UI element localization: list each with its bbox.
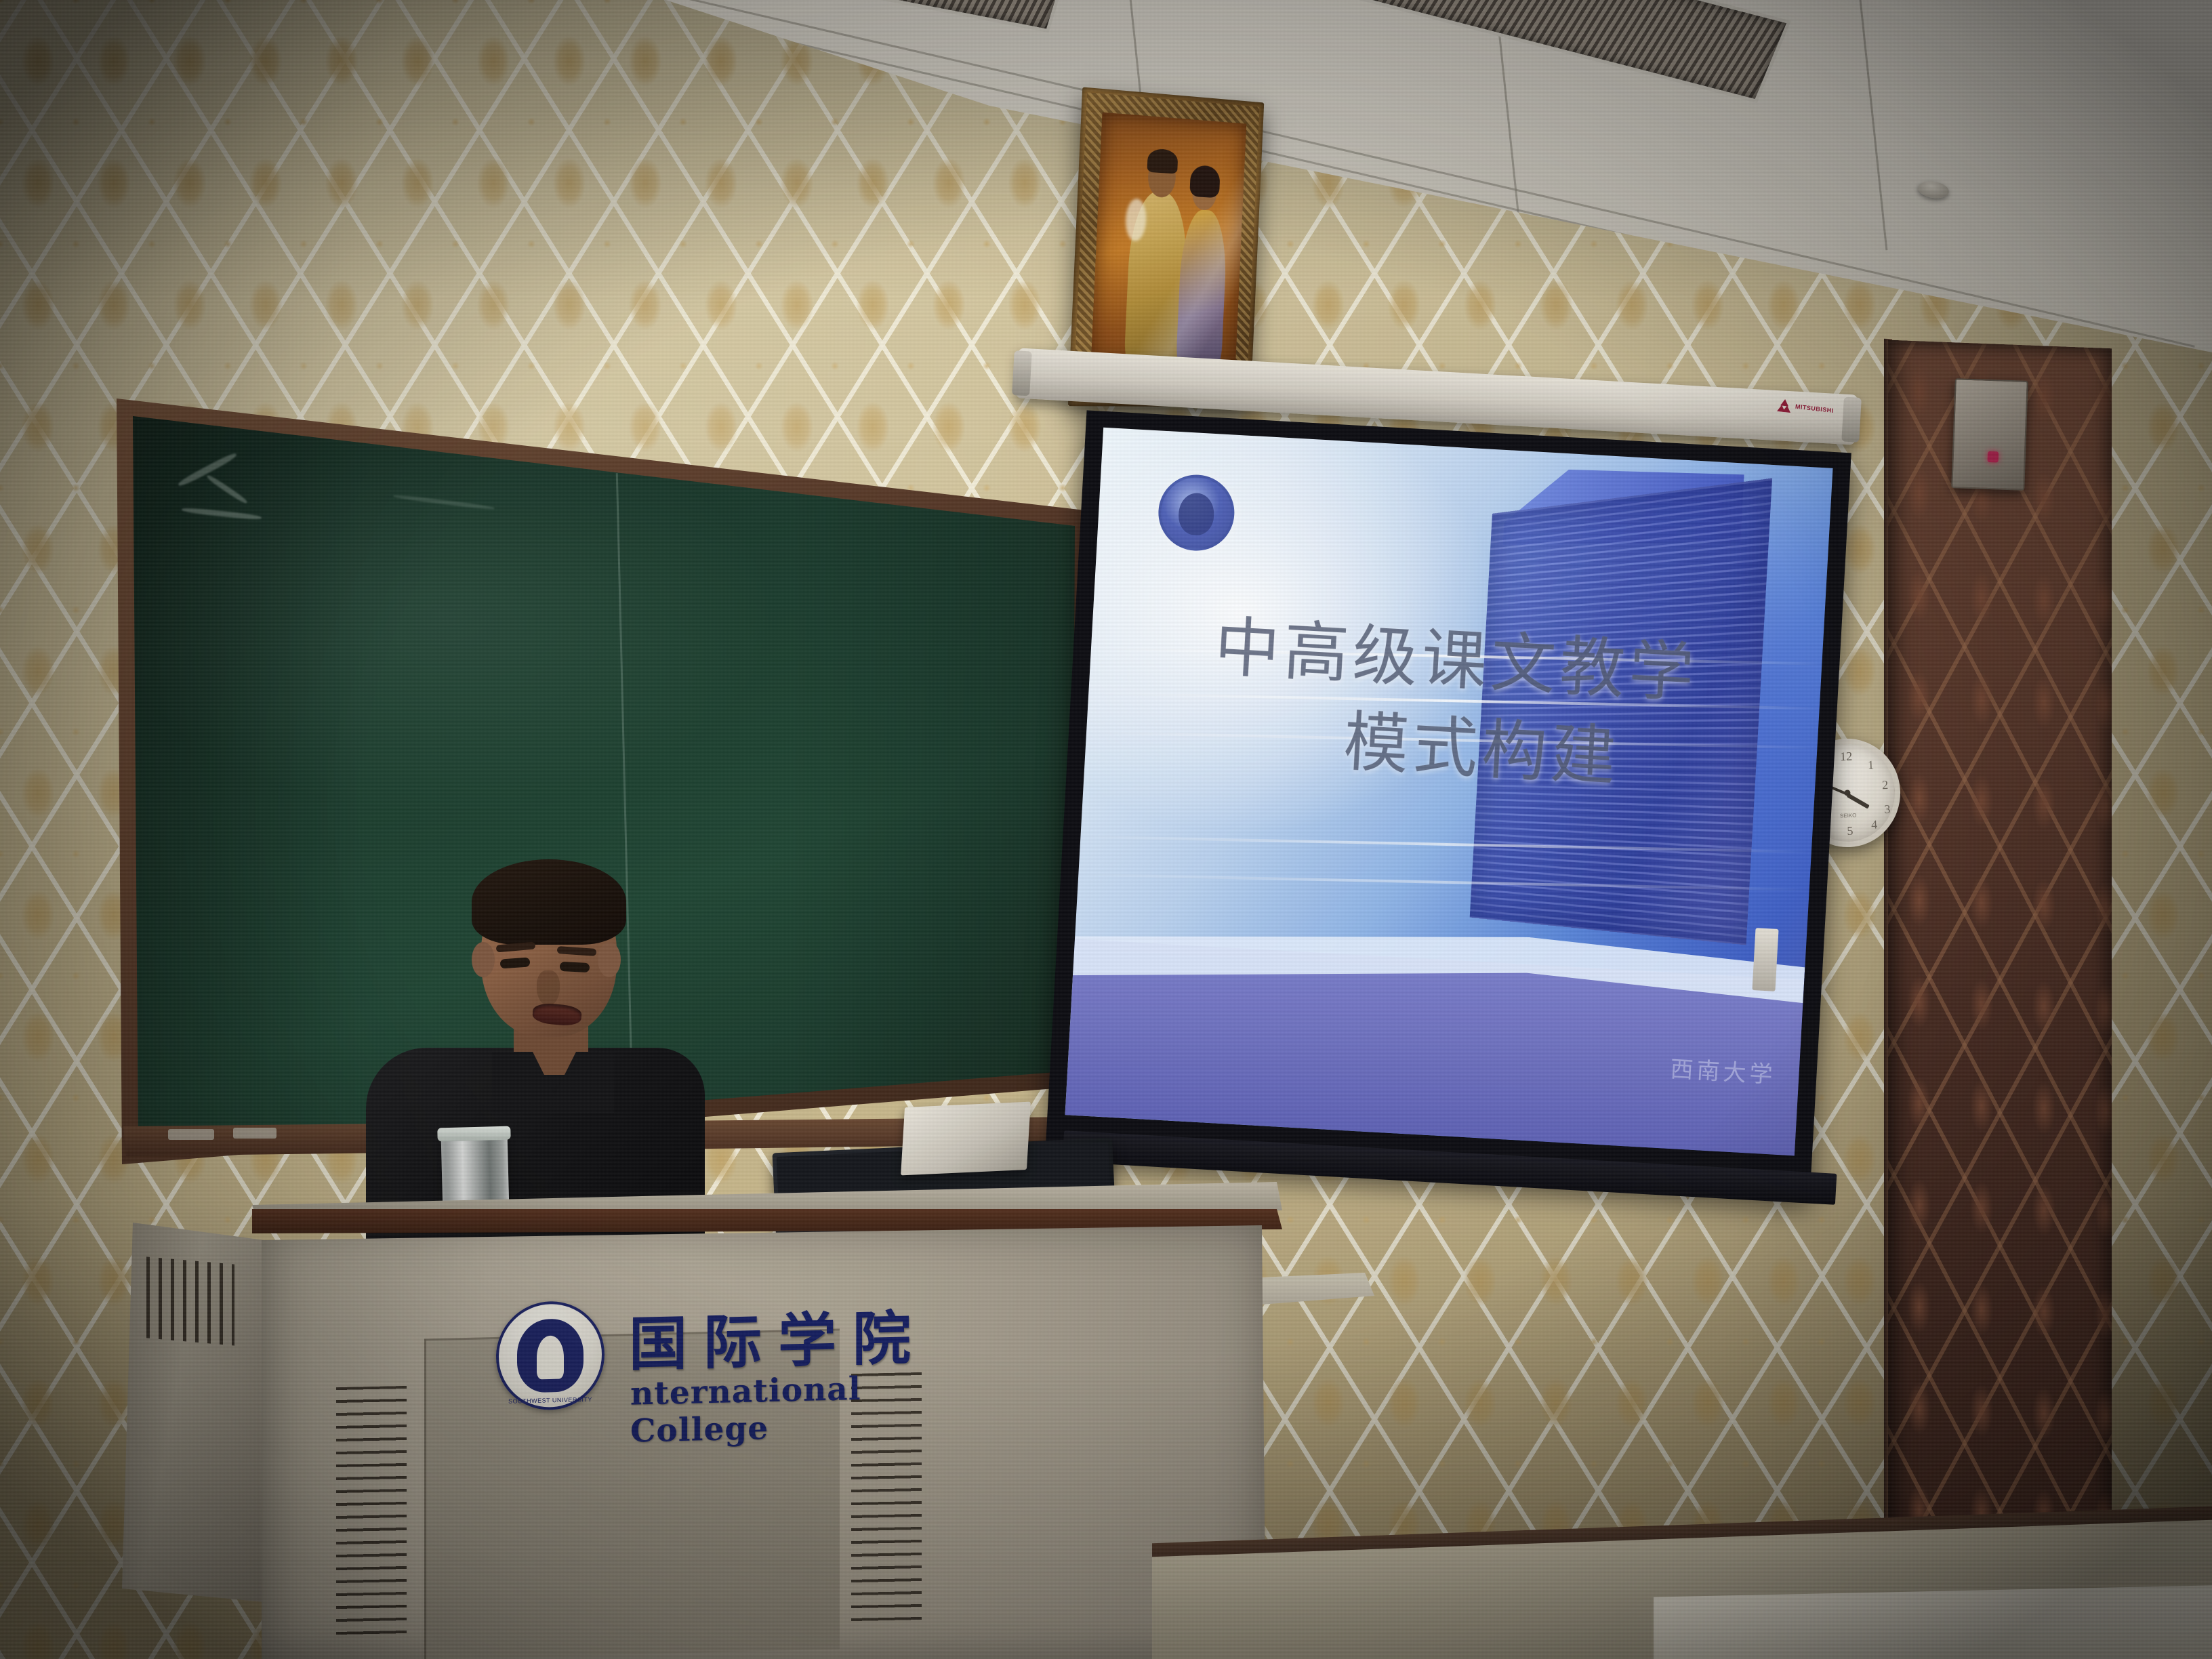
clock-numeral: 2: [1878, 778, 1892, 793]
seal-inner-shape: [1178, 492, 1215, 536]
projected-slide: 中高级课文教学 模式构建 西南大学: [1065, 428, 1832, 1156]
projector-brand-text: MITSUBISHI: [1795, 403, 1834, 414]
screen-housing-end-left: [1012, 350, 1032, 396]
southwest-university-seal-icon: SOUTHWEST UNIVERSITY: [496, 1300, 605, 1412]
chalk-eraser: [168, 1129, 214, 1140]
wall-mounted-speaker: [1951, 378, 2028, 491]
lectern-side-vents: [146, 1256, 234, 1345]
institution-name-english: nternational College: [630, 1368, 984, 1450]
speaker-led-indicator: [1988, 451, 1999, 463]
lectern-device-box[interactable]: [901, 1102, 1031, 1176]
seal-bell-emblem: [537, 1335, 564, 1379]
screen-housing-end-right: [1841, 397, 1862, 443]
presenter-ear-right: [598, 942, 621, 977]
lectern-side-cabinet: [122, 1223, 264, 1602]
presenter-eye-right: [560, 962, 590, 972]
clock-numeral: 1: [1864, 758, 1878, 773]
presenter-ear-left: [472, 942, 495, 977]
clock-numeral: 4: [1867, 817, 1881, 832]
lectern-speaker-grille-left: [336, 1386, 407, 1642]
clock-brand-label: SEIKO: [1840, 812, 1857, 819]
lecture-hall-photo: 12 1 2 3 4 5 6 7 8 9 SEIKO: [0, 0, 2212, 1659]
presenter-nose: [537, 970, 560, 1006]
clock-hour-hand: [1847, 793, 1870, 808]
lectern-institution-plaque: SOUTHWEST UNIVERSITY 国际学院 nternational C…: [496, 1282, 984, 1427]
lectern-front-face: SOUTHWEST UNIVERSITY 国际学院 nternational C…: [262, 1225, 1266, 1659]
chalk-eraser: [233, 1128, 276, 1139]
clock-numeral: 5: [1843, 824, 1858, 839]
glass-lid: [437, 1126, 510, 1142]
projection-screen-side-tab: [1752, 928, 1778, 991]
projector-brand-logo: MITSUBISHI: [1777, 398, 1835, 417]
foreground-desk: [1654, 1585, 2212, 1659]
presenter-hair: [472, 859, 626, 945]
institution-name-chinese: 国际学院: [629, 1290, 927, 1382]
mitsubishi-diamond-icon: [1777, 398, 1792, 412]
clock-numeral: 3: [1881, 802, 1895, 817]
portrait-glass-glare: [1090, 112, 1246, 384]
projection-screen: 中高级课文教学 模式构建 西南大学: [1045, 410, 1851, 1197]
dark-patterned-wall-panel: [1888, 340, 2112, 1576]
seal-ring-text: SOUTHWEST UNIVERSITY: [508, 1396, 592, 1405]
clock-numeral: 12: [1839, 750, 1853, 764]
lectern: SOUTHWEST UNIVERSITY 国际学院 nternational C…: [252, 1182, 1282, 1659]
slide-watermark: 西南大学: [1669, 1050, 1776, 1090]
